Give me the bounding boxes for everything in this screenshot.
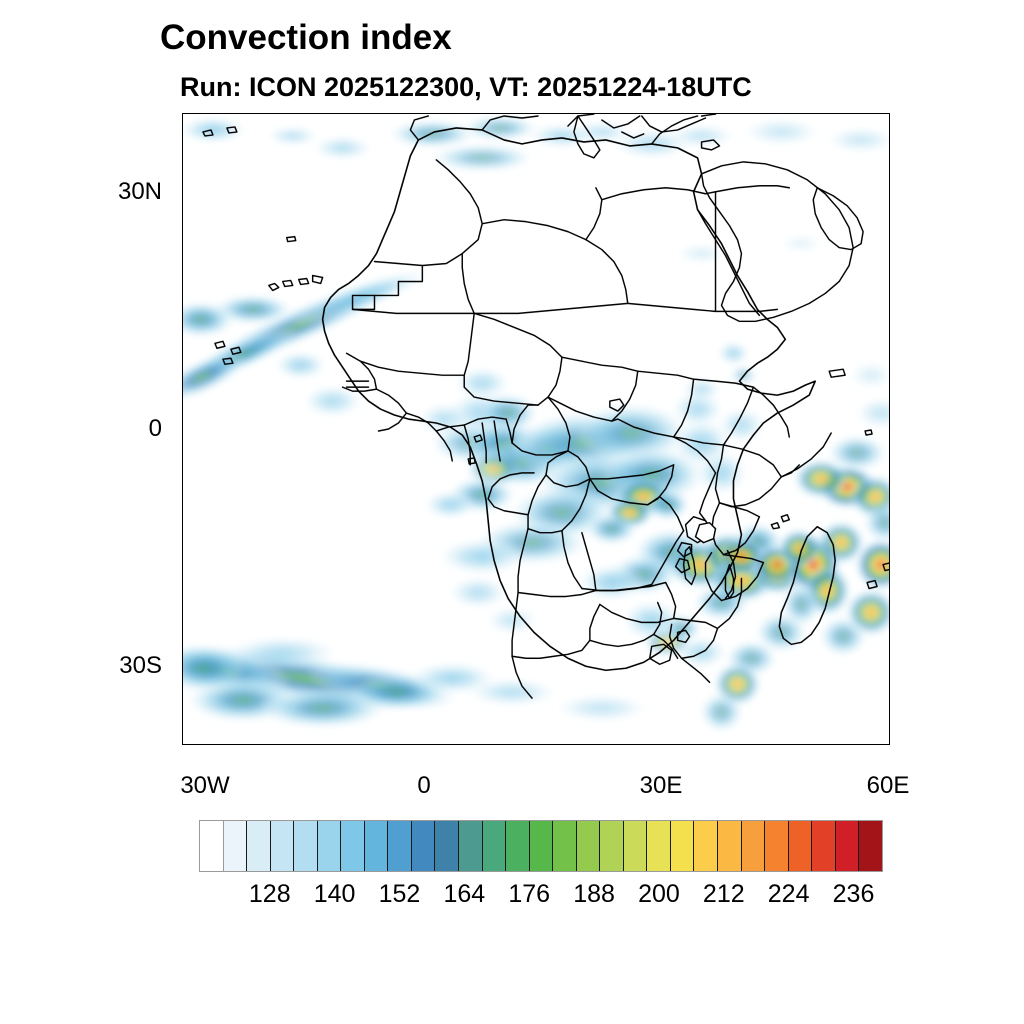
xlabel-30W: 30W — [180, 772, 229, 800]
colorbar-cell — [506, 821, 530, 871]
colorbar-tick-label: 236 — [833, 880, 875, 909]
xlabel-60E: 60E — [867, 772, 910, 800]
colorbar-cell — [483, 821, 507, 871]
colorbar-cell — [600, 821, 624, 871]
map-canvas — [183, 114, 889, 744]
colorbar-tick-label: 224 — [768, 880, 810, 909]
colorbar-tick-label: 188 — [573, 880, 615, 909]
xlabel-30E: 30E — [640, 772, 683, 800]
colorbar-cell — [435, 821, 459, 871]
colorbar-cell — [694, 821, 718, 871]
colorbar-cell — [365, 821, 389, 871]
colorbar-cell — [388, 821, 412, 871]
page-title: Convection index — [160, 18, 452, 58]
colorbar-cell — [318, 821, 342, 871]
colorbar[interactable] — [199, 820, 883, 872]
colorbar-cell — [294, 821, 318, 871]
colorbar-tick-label: 164 — [443, 880, 485, 909]
colorbar-cell — [271, 821, 295, 871]
colorbar-cell — [836, 821, 860, 871]
ylabel-30N: 30N — [100, 178, 162, 206]
colorbar-cells[interactable] — [199, 820, 883, 872]
colorbar-cell — [765, 821, 789, 871]
colorbar-tick-label: 176 — [508, 880, 550, 909]
colorbar-cell — [647, 821, 671, 871]
map-plot-area[interactable] — [182, 113, 890, 745]
colorbar-cell — [718, 821, 742, 871]
ylabel-0: 0 — [100, 415, 162, 443]
colorbar-tick-label: 128 — [249, 880, 291, 909]
xlabel-0: 0 — [417, 772, 430, 800]
colorbar-tick-label: 152 — [379, 880, 421, 909]
colorbar-cell — [789, 821, 813, 871]
colorbar-tick-label: 140 — [314, 880, 356, 909]
colorbar-cell — [812, 821, 836, 871]
colorbar-cell — [742, 821, 766, 871]
colorbar-cell — [247, 821, 271, 871]
ylabel-30S: 30S — [100, 652, 162, 680]
colorbar-cell — [577, 821, 601, 871]
colorbar-tick-label: 200 — [638, 880, 680, 909]
colorbar-cell — [530, 821, 554, 871]
colorbar-cell — [200, 821, 224, 871]
colorbar-labels: 128140152164176188200212224236 — [199, 880, 883, 914]
colorbar-cell — [624, 821, 648, 871]
colorbar-tick-label: 212 — [703, 880, 745, 909]
colorbar-cell — [341, 821, 365, 871]
page-subtitle: Run: ICON 2025122300, VT: 20251224-18UTC — [180, 72, 752, 103]
colorbar-cell — [224, 821, 248, 871]
colorbar-cell — [412, 821, 436, 871]
colorbar-cell — [671, 821, 695, 871]
colorbar-cell — [859, 821, 882, 871]
colorbar-cell — [459, 821, 483, 871]
colorbar-cell — [553, 821, 577, 871]
convection-field — [183, 115, 889, 733]
